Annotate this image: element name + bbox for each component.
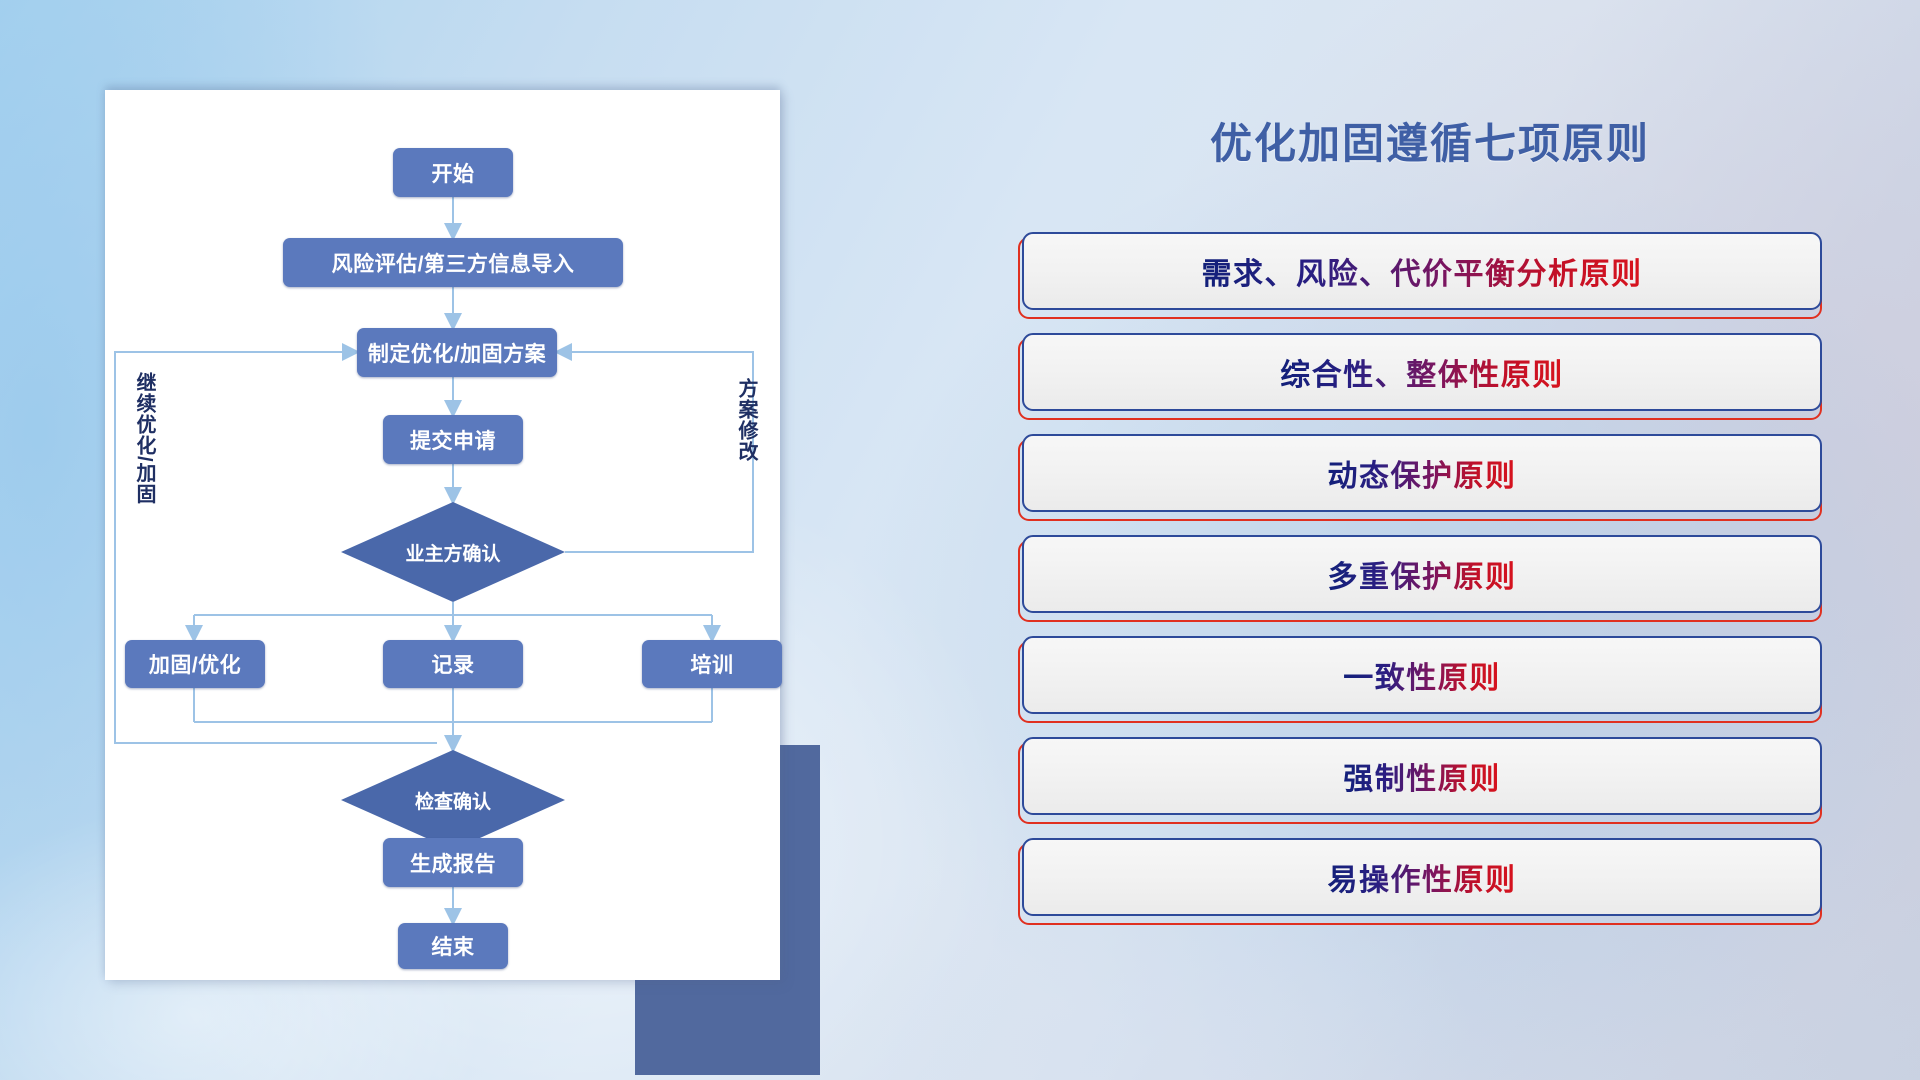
- principle-label: 综合性、整体性原则: [1280, 350, 1564, 394]
- flow-node-label: 提交申请: [410, 425, 496, 455]
- flow-edge-label-continue-optimize: 继续优化/加固: [133, 372, 154, 505]
- flow-node-label: 制定优化/加固方案: [368, 338, 546, 368]
- flow-node-submit-application[interactable]: 提交申请: [383, 415, 523, 464]
- principle-card-2[interactable]: 综合性、整体性原则: [1022, 333, 1822, 411]
- principle-label: 一致性原则: [1343, 653, 1501, 697]
- principle-card-5[interactable]: 一致性原则: [1022, 636, 1822, 714]
- flow-edge-label-plan-revision: 方案修改: [735, 378, 756, 462]
- flow-node-risk-assessment[interactable]: 风险评估/第三方信息导入: [283, 238, 623, 287]
- principle-label: 强制性原则: [1343, 754, 1501, 798]
- principle-label: 多重保护原则: [1328, 552, 1517, 596]
- flow-node-reinforce-optimize[interactable]: 加固/优化: [125, 640, 265, 688]
- flow-node-generate-report[interactable]: 生成报告: [383, 838, 523, 887]
- principle-card-4[interactable]: 多重保护原则: [1022, 535, 1822, 613]
- flow-node-label: 生成报告: [410, 848, 496, 878]
- flow-node-end[interactable]: 结束: [398, 923, 508, 969]
- flow-node-label: 结束: [432, 931, 475, 961]
- flow-node-label: 记录: [432, 649, 475, 679]
- principle-label: 易操作性原则: [1328, 855, 1517, 899]
- principle-card-1[interactable]: 需求、风险、代价平衡分析原则: [1022, 232, 1822, 310]
- flow-node-record[interactable]: 记录: [383, 640, 523, 688]
- principle-label: 动态保护原则: [1328, 451, 1517, 495]
- flow-node-start[interactable]: 开始: [393, 148, 513, 197]
- flow-node-label: 培训: [691, 649, 734, 679]
- principle-card-3[interactable]: 动态保护原则: [1022, 434, 1822, 512]
- page-title: 优化加固遵循七项原则: [1150, 110, 1710, 171]
- flow-node-make-plan[interactable]: 制定优化/加固方案: [357, 328, 557, 377]
- flow-node-label: 检查确认: [415, 787, 491, 814]
- flow-node-training[interactable]: 培训: [642, 640, 782, 688]
- flow-node-label: 开始: [432, 158, 475, 188]
- principle-card-6[interactable]: 强制性原则: [1022, 737, 1822, 815]
- flow-node-label: 加固/优化: [149, 649, 241, 679]
- principles-list: 需求、风险、代价平衡分析原则 综合性、整体性原则 动态保护原则 多重保护原则 一…: [1022, 232, 1822, 939]
- flow-node-label: 业主方确认: [405, 539, 500, 566]
- principle-card-7[interactable]: 易操作性原则: [1022, 838, 1822, 916]
- principle-label: 需求、风险、代价平衡分析原则: [1202, 249, 1643, 293]
- flow-node-label: 风险评估/第三方信息导入: [332, 248, 575, 278]
- flowchart-panel: 开始 风险评估/第三方信息导入 制定优化/加固方案 提交申请 业主方确认 加固/…: [105, 90, 805, 990]
